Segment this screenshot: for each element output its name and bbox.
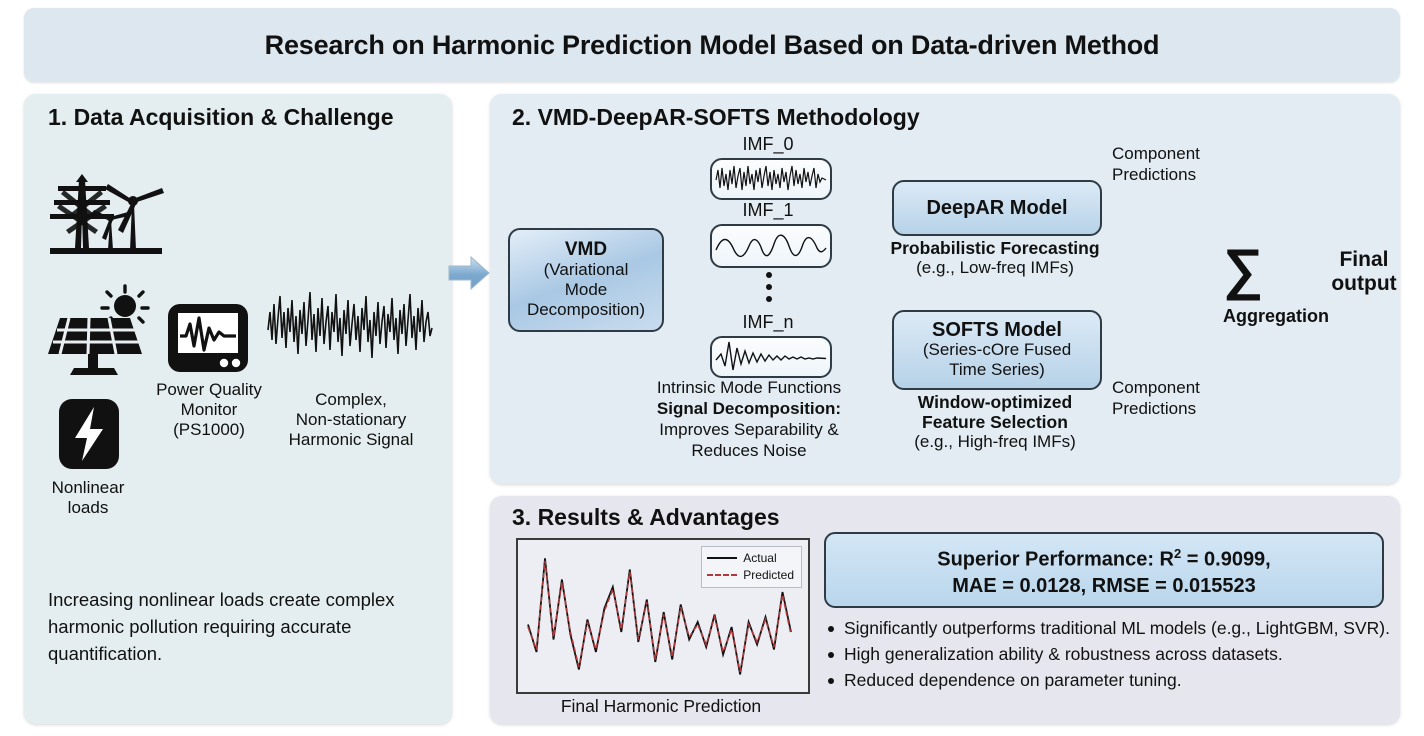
vmd-line2: Mode	[527, 280, 645, 300]
metrics-line1b: = 0.9099,	[1181, 549, 1271, 571]
component-predictions-bottom-line1: Component	[1112, 378, 1242, 398]
imf-caption-line4: Reduces Noise	[604, 441, 894, 461]
imf0-waveform-box	[710, 158, 832, 200]
component-predictions-top-line2: Predictions	[1112, 165, 1242, 185]
softs-note: (e.g., High-freq IMFs)	[872, 432, 1118, 452]
legend-swatch-actual	[707, 557, 737, 559]
deepar-title: DeepAR Model	[926, 198, 1067, 218]
infographic-root: Research on Harmonic Prediction Model Ba…	[0, 0, 1424, 736]
chart-caption: Final Harmonic Prediction	[512, 696, 810, 716]
metrics-highlight-box: Superior Performance: R2 = 0.9099, MAE =…	[824, 532, 1384, 608]
legend-swatch-predicted	[707, 574, 737, 576]
panel1-heading: 1. Data Acquisition & Challenge	[48, 104, 393, 131]
legend-item-actual: Actual	[707, 551, 794, 565]
final-output-line2: output	[1310, 274, 1418, 294]
final-harmonic-prediction-chart: Actual Predicted	[516, 538, 810, 694]
signal-label-line3: Harmonic Signal	[256, 430, 446, 450]
vmd-box: VMD (Variational Mode Decomposition)	[508, 228, 664, 332]
summation-sigma-icon: ∑	[1216, 238, 1270, 300]
solar-panel-icon	[44, 284, 162, 376]
signal-label-line1: Complex,	[266, 390, 436, 410]
imf-caption-line1: Intrinsic Mode Functions	[604, 378, 894, 398]
monitor-label-line1: Power Quality	[138, 380, 280, 400]
metrics-line2: MAE = 0.0128, RMSE = 0.015523	[952, 575, 1256, 597]
page-title: Research on Harmonic Prediction Model Ba…	[265, 30, 1160, 61]
lightning-bolt-icon	[56, 396, 122, 472]
softs-title: SOFTS Model	[923, 320, 1071, 340]
deepar-note: (e.g., Low-freq IMFs)	[872, 258, 1118, 278]
chart-legend: Actual Predicted	[701, 546, 802, 588]
nonlinear-loads-label-line2: loads	[18, 498, 158, 518]
nonlinear-loads-label-line1: Nonlinear	[18, 478, 158, 498]
vmd-line1: (Variational	[527, 260, 645, 280]
softs-subtitle-1: Window-optimized	[872, 392, 1118, 412]
legend-label-predicted: Predicted	[743, 568, 794, 582]
component-predictions-bottom-line2: Predictions	[1112, 399, 1242, 419]
deepar-model-box: DeepAR Model	[892, 180, 1102, 236]
blue-right-arrow-icon	[446, 250, 492, 296]
legend-item-predicted: Predicted	[707, 568, 794, 582]
softs-subtitle-2: Feature Selection	[872, 412, 1118, 432]
imf0-label: IMF_0	[708, 134, 828, 154]
figure-title-bar: Research on Harmonic Prediction Model Ba…	[24, 8, 1400, 82]
component-predictions-top-line1: Component	[1112, 144, 1242, 164]
softs-line1: (Series-cOre Fused	[923, 340, 1071, 360]
list-item: Significantly outperforms traditional ML…	[824, 616, 1390, 641]
legend-label-actual: Actual	[743, 551, 776, 565]
imf1-waveform-box	[710, 224, 832, 268]
vmd-line3: Decomposition)	[527, 300, 645, 320]
vmd-title: VMD	[527, 240, 645, 260]
power-quality-monitor-icon	[166, 302, 250, 376]
softs-line2: Time Series)	[923, 360, 1071, 380]
imfn-waveform-box	[710, 336, 832, 378]
ellipsis-dots-icon	[766, 272, 772, 302]
noisy-harmonic-waveform-icon	[266, 282, 436, 374]
imfn-label: IMF_n	[708, 312, 828, 332]
transmission-tower-wind-turbine-icon	[46, 168, 166, 256]
imf1-label: IMF_1	[708, 200, 828, 220]
panel1-caption: Increasing nonlinear loads create comple…	[48, 586, 418, 667]
list-item: Reduced dependence on parameter tuning.	[824, 668, 1390, 693]
panel2-heading: 2. VMD-DeepAR-SOFTS Methodology	[512, 104, 920, 131]
advantages-list: Significantly outperforms traditional ML…	[824, 616, 1390, 694]
signal-label-line2: Non-stationary	[256, 410, 446, 430]
softs-model-box: SOFTS Model (Series-cOre Fused Time Seri…	[892, 310, 1102, 390]
imf-caption-line2: Signal Decomposition:	[604, 399, 894, 419]
panel3-heading: 3. Results & Advantages	[512, 504, 780, 531]
final-output-line1: Final	[1318, 250, 1410, 270]
deepar-subtitle: Probabilistic Forecasting	[872, 238, 1118, 258]
list-item: High generalization ability & robustness…	[824, 642, 1390, 667]
imf-caption-line3: Improves Separability &	[604, 420, 894, 440]
metrics-line1: Superior Performance: R	[937, 549, 1174, 571]
aggregation-label: Aggregation	[1196, 306, 1356, 326]
